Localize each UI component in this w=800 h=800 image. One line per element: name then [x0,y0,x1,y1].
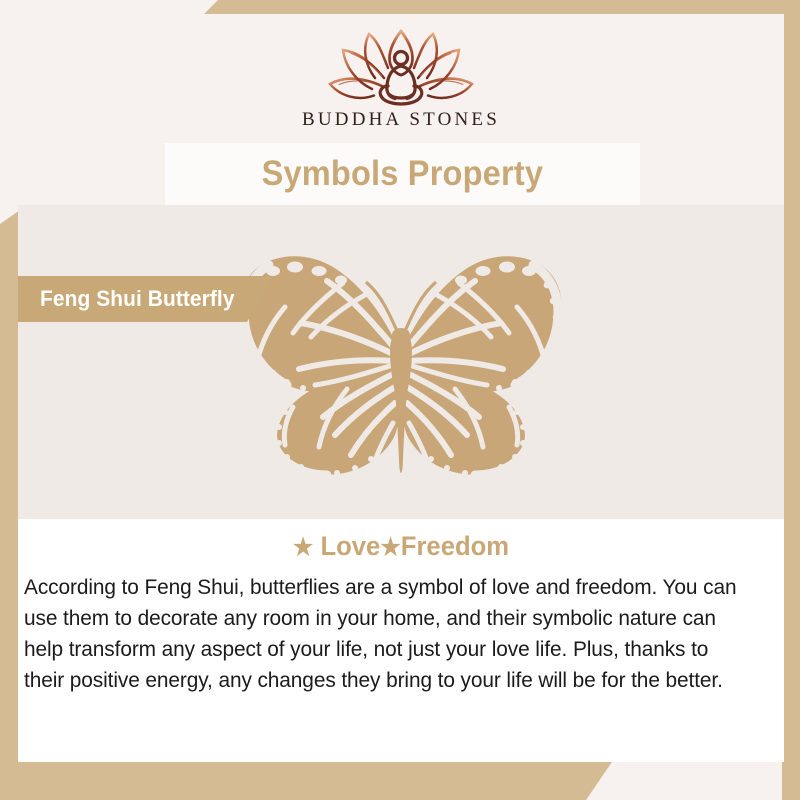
brand-name: BUDDHA STONES [302,109,500,131]
poster-card: BUDDHA STONES Symbols Property [18,14,784,762]
keyword-love: Love [320,531,380,561]
description-paragraph: According to Feng Shui, butterflies are … [24,572,752,696]
page-title-band: Symbols Property [165,143,640,205]
brand-header: BUDDHA STONES [18,14,784,142]
butterfly-icon [215,247,587,483]
poster-root: BUDDHA STONES Symbols Property [0,0,800,800]
decor-right-bar [782,0,800,800]
feature-label-banner: Feng Shui Butterfly [18,276,273,322]
decor-left-bar [0,210,20,780]
lotus-meditation-icon [326,26,476,108]
feature-label-text: Feng Shui Butterfly [40,286,235,312]
description-panel: ★ Love★Freedom According to Feng Shui, b… [18,519,784,762]
page-title: Symbols Property [262,154,544,194]
star-icon-middle: ★ [380,534,400,561]
star-icon-left: ★ [293,534,313,561]
decor-bottom-bar [0,762,612,800]
keywords-heading: ★ Love★Freedom [37,519,765,562]
illustration-panel [18,205,784,519]
keyword-freedom: Freedom [401,531,509,561]
